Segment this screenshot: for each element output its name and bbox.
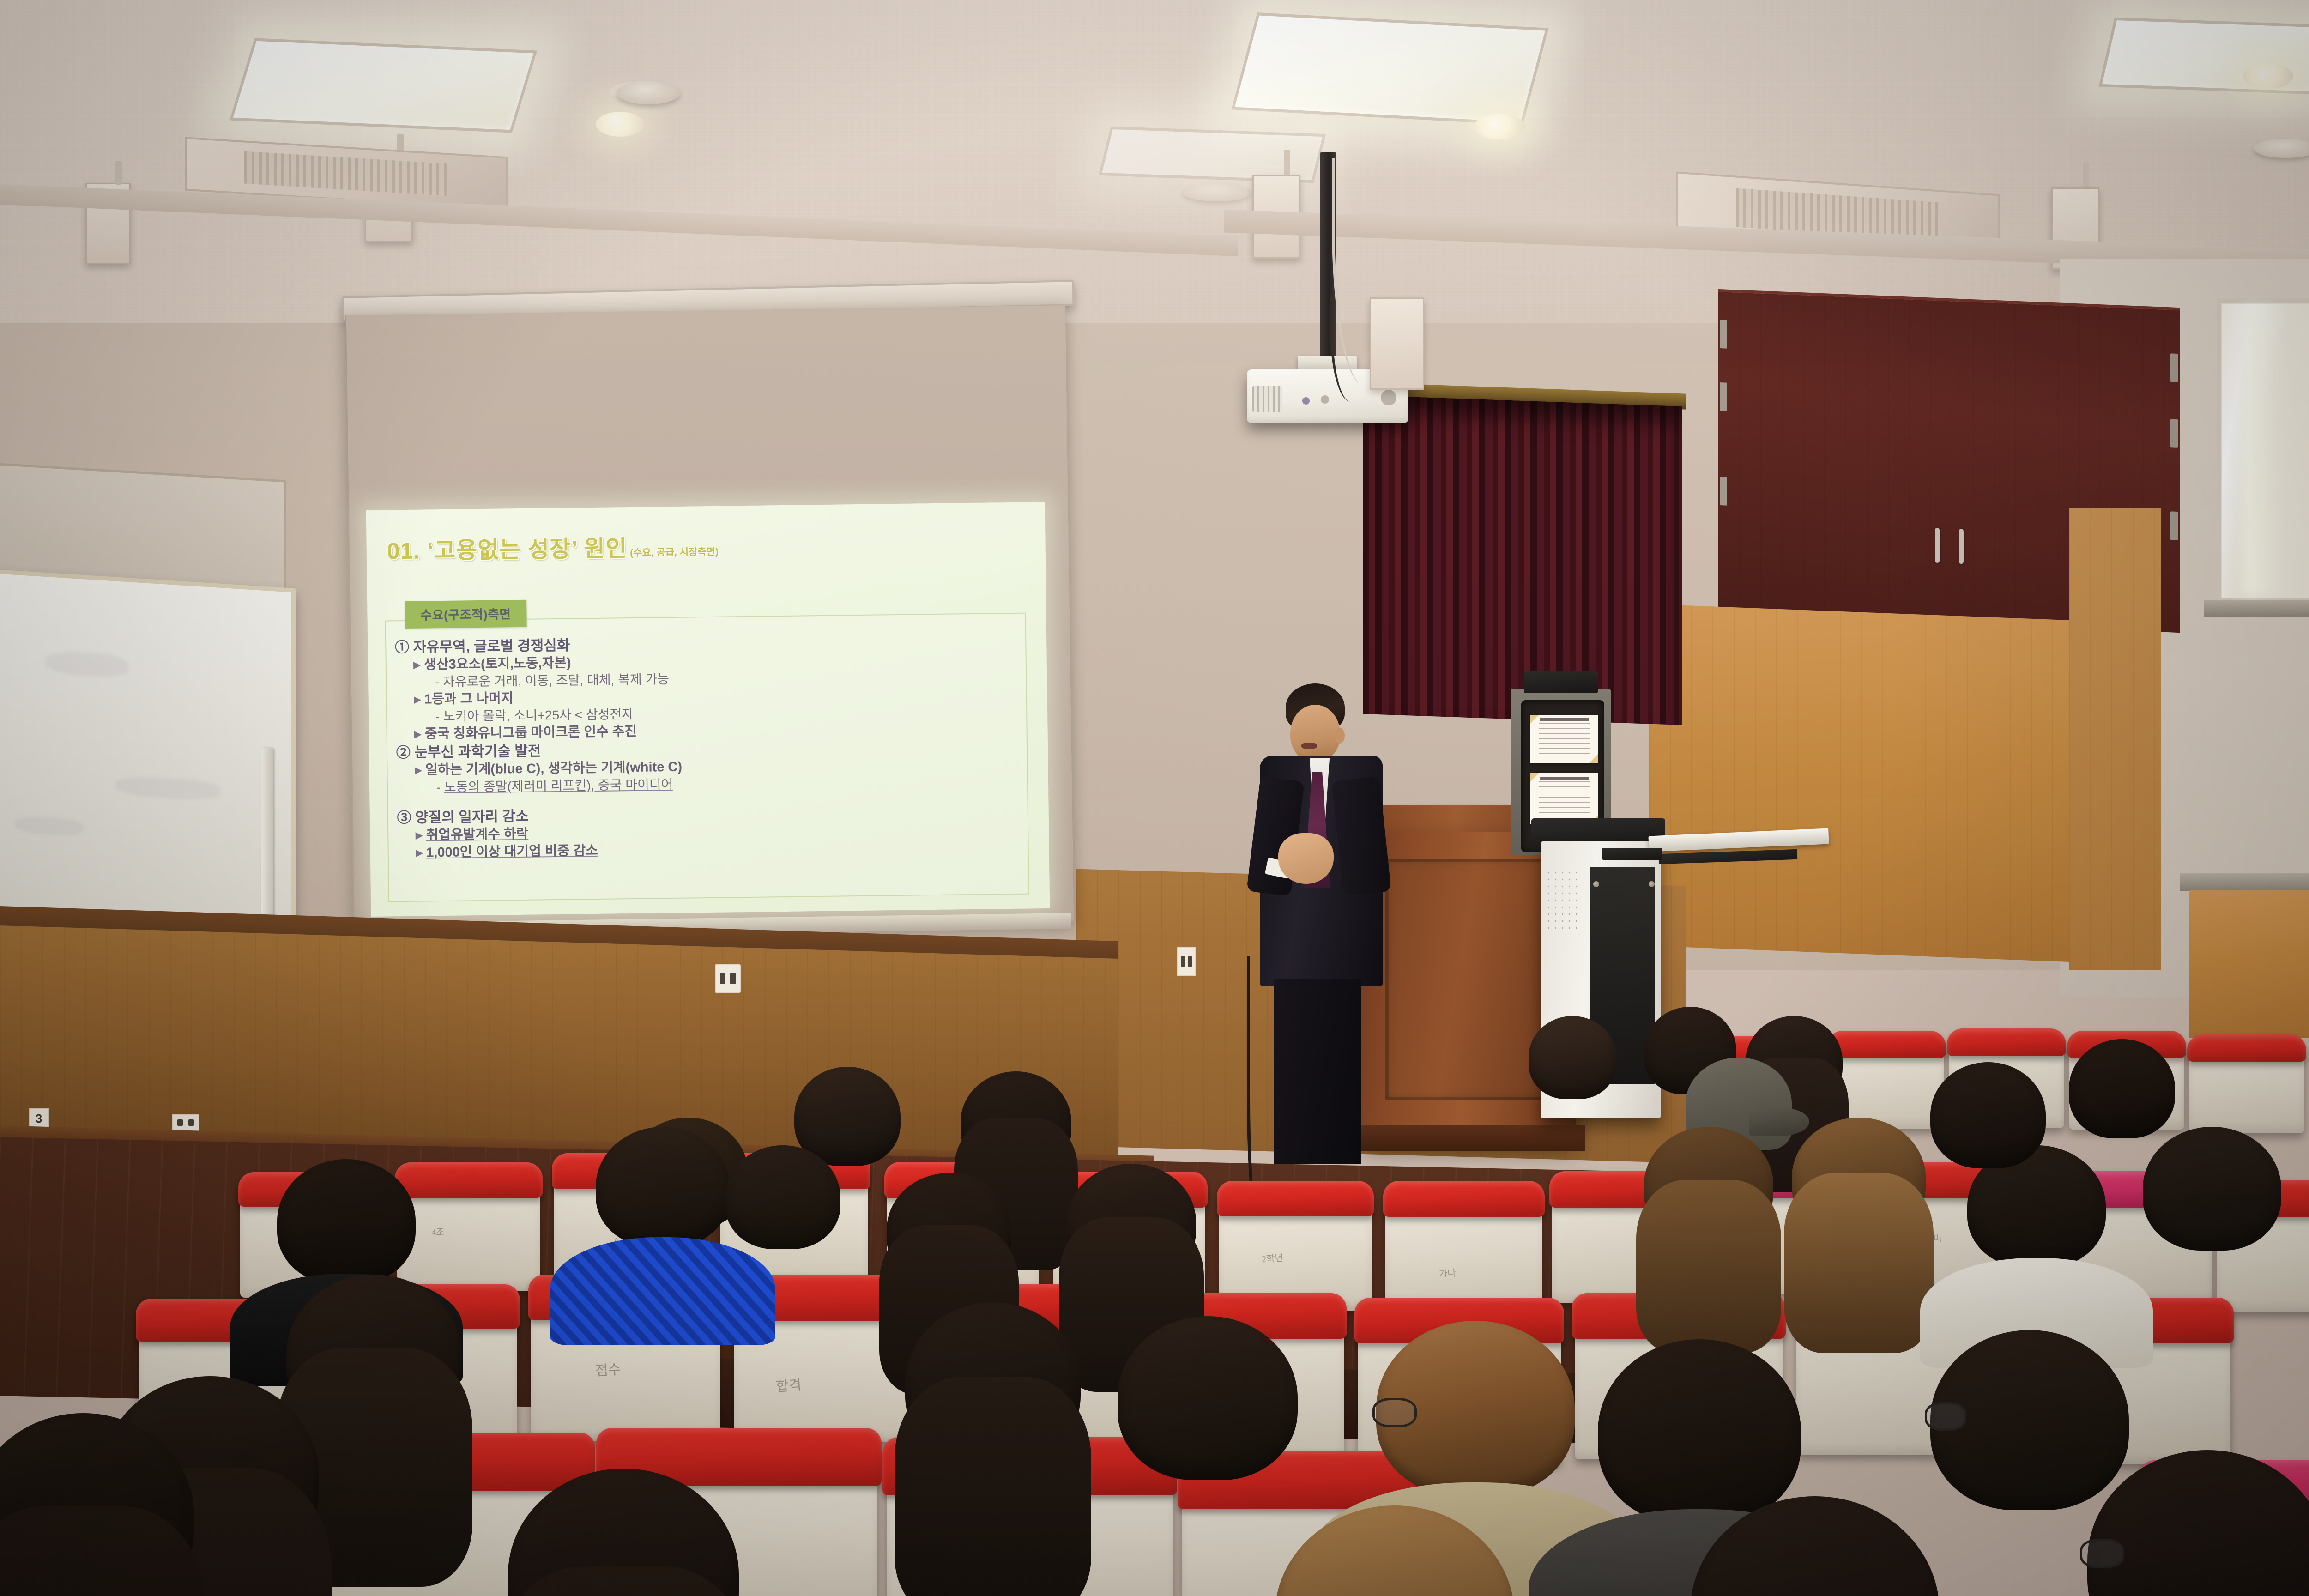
projector-button[interactable] [1321,395,1329,404]
wall-panel-wood-right-2 [2069,508,2161,970]
cabinet-hinge-6 [2170,511,2178,540]
ceiling-speaker-round-3 [1182,183,1251,201]
window-lower-panel [2189,890,2309,1038]
wood-panel-grain [1649,604,2129,964]
audience-hair [1118,1316,1298,1480]
slide-bullet-text: 취업유발계수 하락 [426,826,529,842]
audience-head-n2 [905,1302,1081,1464]
projector-lens-ring [1381,390,1396,405]
av-cart-screw-2 [1649,881,1655,887]
audience-head-n8 [0,1413,194,1596]
audience-hair [1275,1505,1515,1596]
ceiling-downlight-1 [596,112,645,137]
audience-glasses [1925,1402,1966,1431]
slide-bullet-text: 1,000인 이상 대기업 비중 감소 [426,843,598,860]
presenter [1247,683,1404,1145]
slide-bullet-text: 자유로운 거래, 이동, 조달, 대체, 복제 가능 [443,672,669,689]
seat-rowA-8[interactable]: 가나 [1385,1191,1542,1312]
speaker-bracket-2 [1284,150,1290,175]
audience-hair [2069,1039,2175,1138]
audience-head-m7 [1792,1118,1926,1238]
rack-notice-1-heading [1540,718,1588,721]
audience-head-n14 [2069,1039,2175,1138]
window-sill-lower [2180,873,2309,891]
audience-head-n11 [1690,1496,1940,1596]
slide-bullet-text: ① 자유무역, 글로벌 경쟁심화 [395,637,570,655]
audience-head-m2 [725,1145,840,1249]
whiteboard-smudge-2 [115,774,221,801]
audience-hair [2143,1127,2281,1251]
audience-head-m1-blue [596,1127,730,1247]
cabinet-hinge-5 [2170,419,2178,448]
cabinet-hinge-4 [2170,353,2178,382]
audience-head-n12 [2087,1450,2309,1596]
audience-head-f6 [961,1071,1071,1173]
slide-bullet-l3: 자유로운 거래, 이동, 조달, 대체, 복제 가능 [435,668,1020,688]
wall-panel-wood-right [1649,604,2129,964]
ceiling-downlight-3 [2243,64,2293,89]
seat-cushion [1827,1031,1946,1058]
presenter-ear [1335,728,1345,744]
slide-bullet-text: 1등과 그 나머지 [424,691,514,707]
seat-cushion [395,1162,542,1198]
slide-title-row: 01. ‘고용없는 성장’ 원인 (수요, 공급, 시장측면) [387,529,719,566]
speaker-bracket-3 [2083,163,2089,187]
wall-speaker-behind-projector [1370,297,1424,390]
slide-bullet-l3: 노동의 종말(제러미 리프킨), 중국 마이디어 [436,774,1022,793]
slide-title-subnote: (수요, 공급, 시장측면) [630,544,719,559]
presenter-hands-clasped [1278,833,1334,884]
rack-notice-1 [1530,715,1598,763]
cabinet-hinge-2 [1720,382,1727,411]
ceiling-panel-light-1 [230,38,537,133]
audience-long-hair [895,1377,1091,1596]
rack-notice-1-body [1539,723,1590,756]
audience-head-n9 [508,1469,739,1596]
cabinet-hinge-3 [1720,477,1727,506]
whiteboard-smudge-3 [14,815,84,837]
slide-bullet-text: 일하는 기계(blue C), 생각하는 기계(white C) [425,759,682,777]
wall-outlet-stage[interactable] [1177,947,1196,976]
audience-hair [1690,1496,1940,1596]
presenter-mouth [1301,743,1317,749]
wall-number-plate: 3 [29,1108,49,1129]
wall-outlet-left[interactable] [172,1114,199,1131]
slide-bullet-text: 노키아 몰락, 소니+25사 < 삼성전자 [443,707,634,724]
stage-curtain [1363,395,1682,725]
audience-hair [1930,1062,2046,1168]
audience-glasses [2080,1539,2124,1568]
audience-hair [2087,1450,2309,1596]
slide-bullet-l2: 1등과 그 나머지 [414,685,1020,706]
presenter-head [1290,705,1340,762]
window-light-glow [2243,305,2284,596]
slide-bullet-text: 노동의 종말(제러미 리프킨), 중국 마이디어 [444,777,673,794]
slide-bullet-l2: 중국 칭화유니그룹 마이크론 인수 추진 [414,720,1021,741]
projector-vent [1252,386,1282,412]
seat-cushion [1383,1181,1545,1217]
podium-front-panel [1385,859,1552,1100]
speaker-bracket-4 [115,161,122,185]
rack-notice-2-heading [1540,777,1588,780]
projected-slide: 01. ‘고용없는 성장’ 원인 (수요, 공급, 시장측면) 수요(구조적)측… [366,502,1050,917]
audience-head-m5 [1067,1164,1196,1280]
audience-head-m3 [277,1159,416,1284]
slide-bullet-l2: 일하는 기계(blue C), 생각하는 기계(white C) [415,756,1021,777]
audience-head-m9 [2143,1127,2281,1251]
audience-long-hair [1636,1180,1781,1353]
audience-hair [1529,1016,1616,1099]
rack-notice-2-body [1539,781,1590,816]
audience-glasses [1372,1398,1417,1427]
seat-rowA-2[interactable]: 4조 [397,1173,540,1291]
ceiling-downlight-2 [1474,114,1525,139]
audience-head-n4-glasses [1376,1321,1575,1496]
slide-bullet-text: ③ 양질의 일자리 감소 [397,808,528,825]
slide-bullet-text: 생산3요소(토지,노동,자본) [424,655,571,672]
ceiling-panel-light-2 [1231,12,1548,125]
slide-bullet-l2: 1,000인 이상 대기업 비중 감소 [416,839,1022,859]
audience-head-n13 [1930,1062,2046,1168]
whiteboard-smudge-1 [46,650,129,678]
seat-rowA-7[interactable]: 2학년 [1219,1191,1372,1311]
wall-outlet-center[interactable] [715,964,741,993]
seat-cushion [1217,1181,1374,1216]
audience-jacket-blue [550,1237,775,1345]
cabinet-hinge-1 [1720,320,1727,349]
rack-notice-2 [1530,773,1598,824]
slide-body-list: ① 자유무역, 글로벌 경쟁심화생산3요소(토지,노동,자본)자유로운 거래, … [395,632,1022,864]
audience-head-n10 [1275,1505,1515,1596]
cabinet-handle-left[interactable] [1935,528,1940,563]
audience-long-hair [1784,1173,1934,1353]
slide-bullet-l2: 생산3요소(토지,노동,자본) [413,651,1020,671]
wood-panel-grain-2 [2069,508,2161,970]
audience-hair [725,1145,840,1249]
audience-head-m4 [887,1173,1011,1286]
rack-top-device [1524,671,1598,693]
presenter-legs [1274,979,1361,1164]
slide-bullet-l1: ② 눈부신 과학기술 발전 [396,738,1021,760]
av-cart-vent-perforation [1545,869,1582,929]
seat-cushion [1947,1028,2066,1056]
slide-bullet-l3: 노키아 몰락, 소니+25사 < 삼성전자 [435,703,1021,723]
seat-cushion [2187,1034,2306,1062]
audience-head-m6 [1644,1127,1773,1242]
window-sill [2204,600,2309,617]
av-cart-screw-1 [1593,881,1599,887]
slide-section-label: 수요(구조적)측면 [405,600,527,629]
slide-title: 01. ‘고용없는 성장’ 원인 [387,530,627,566]
mobile-whiteboard[interactable] [0,568,296,930]
slide-bullet-text: ② 눈부신 과학기술 발전 [396,743,541,761]
ceiling-speaker-round-1 [617,81,680,104]
seat-row1-5[interactable] [2189,1043,2304,1133]
audience-head-f1 [1529,1016,1616,1099]
lecture-hall-scene: 01. ‘고용없는 성장’ 원인 (수요, 공급, 시장측면) 수요(구조적)측… [0,0,2309,1596]
slide-bullet-l2: 취업유발계수 하락 [416,821,1022,842]
audience-hair [277,1159,416,1284]
audience-hair [596,1127,730,1247]
av-cart-keyboard-tray[interactable] [1602,848,1662,860]
projector-indicator [1302,397,1310,405]
audience-head-n3 [1118,1316,1298,1480]
cabinet-handle-right[interactable] [1959,529,1964,564]
slide-bullet-text: 중국 칭화유니그룹 마이크론 인수 추진 [425,724,637,741]
